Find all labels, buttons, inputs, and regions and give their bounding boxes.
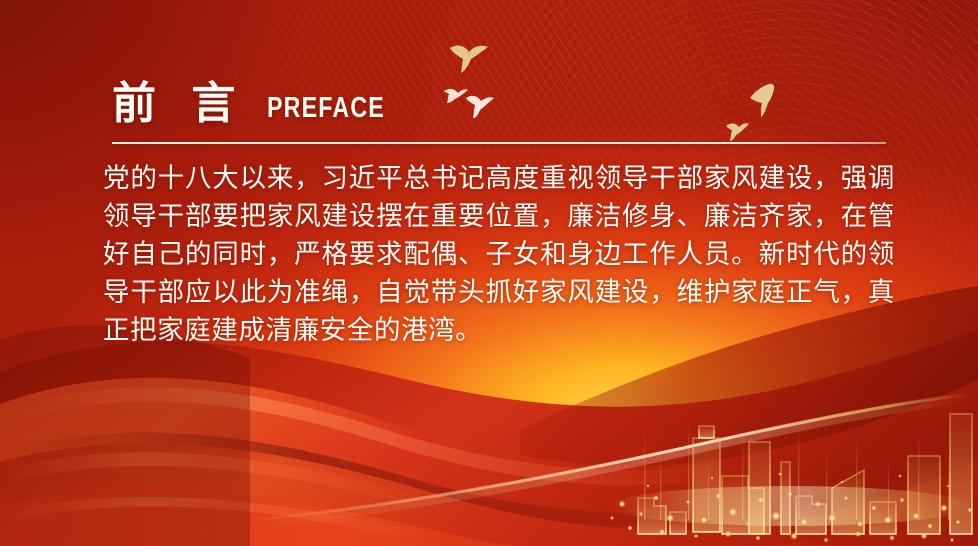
page-title-english: PREFACE	[267, 94, 385, 123]
title-block: 前 言 PREFACE	[112, 82, 415, 126]
preface-body-text: 党的十八大以来，习近平总书记高度重视领导干部家风建设，强调领导干部要把家风建设摆…	[103, 160, 895, 350]
preface-paragraph: 党的十八大以来，习近平总书记高度重视领导干部家风建设，强调领导干部要把家风建设摆…	[103, 160, 895, 350]
title-divider	[112, 142, 886, 144]
slide-content: 前 言 PREFACE 党的十八大以来，习近平总书记高度重视领导干部家风建设，强…	[0, 0, 978, 546]
page-title-chinese: 前 言	[112, 82, 245, 126]
preface-slide: 前 言 PREFACE 党的十八大以来，习近平总书记高度重视领导干部家风建设，强…	[0, 0, 978, 546]
